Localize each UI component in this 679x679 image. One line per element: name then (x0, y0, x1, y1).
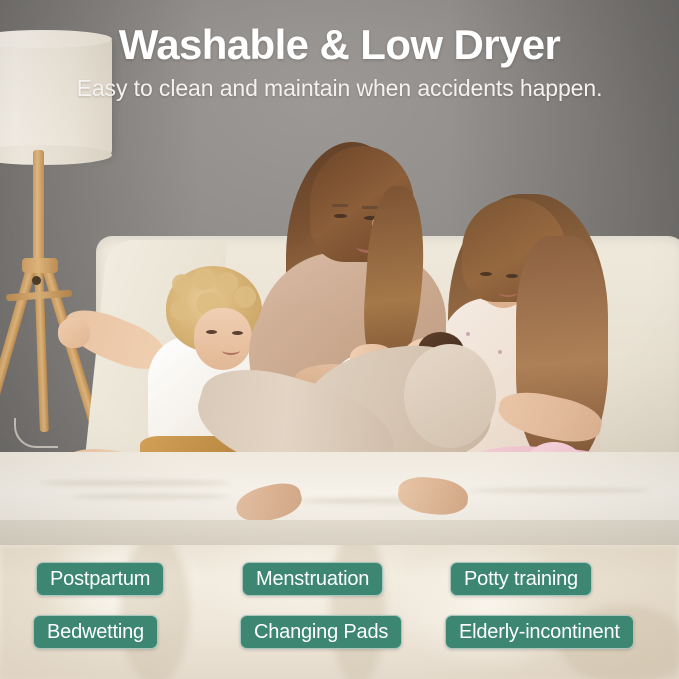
toddler-mouth (222, 346, 240, 355)
lamp-knob (32, 276, 41, 285)
toddler-face (194, 308, 252, 370)
badge-menstruation[interactable]: Menstruation (242, 562, 383, 596)
mother-knee (404, 344, 496, 448)
badge-elderly-incontinent[interactable]: Elderly-incontinent (445, 615, 634, 649)
use-case-badge-strip: Postpartum Menstruation Potty training B… (0, 545, 679, 679)
badge-potty-training[interactable]: Potty training (450, 562, 592, 596)
badge-postpartum[interactable]: Postpartum (36, 562, 164, 596)
toddler-eye (206, 330, 217, 334)
badge-grid: Postpartum Menstruation Potty training B… (0, 545, 679, 679)
girl-mouth (498, 288, 518, 297)
mother-brow (362, 206, 378, 209)
girl-eye (506, 274, 518, 278)
page-subtitle: Easy to clean and maintain when accident… (0, 74, 679, 102)
toddler-eye (232, 331, 243, 335)
toddler-fist (58, 318, 90, 348)
product-infographic: Washable & Low Dryer Easy to clean and m… (0, 0, 679, 679)
badge-changing-pads[interactable]: Changing Pads (240, 615, 402, 649)
page-title: Washable & Low Dryer (0, 22, 679, 68)
mother-eye (334, 214, 347, 218)
girl-eye (480, 272, 492, 276)
lamp-hub (22, 258, 58, 273)
header: Washable & Low Dryer Easy to clean and m… (0, 0, 679, 102)
mother-brow (332, 204, 348, 207)
badge-bedwetting[interactable]: Bedwetting (33, 615, 158, 649)
lamp-stem (33, 150, 44, 264)
